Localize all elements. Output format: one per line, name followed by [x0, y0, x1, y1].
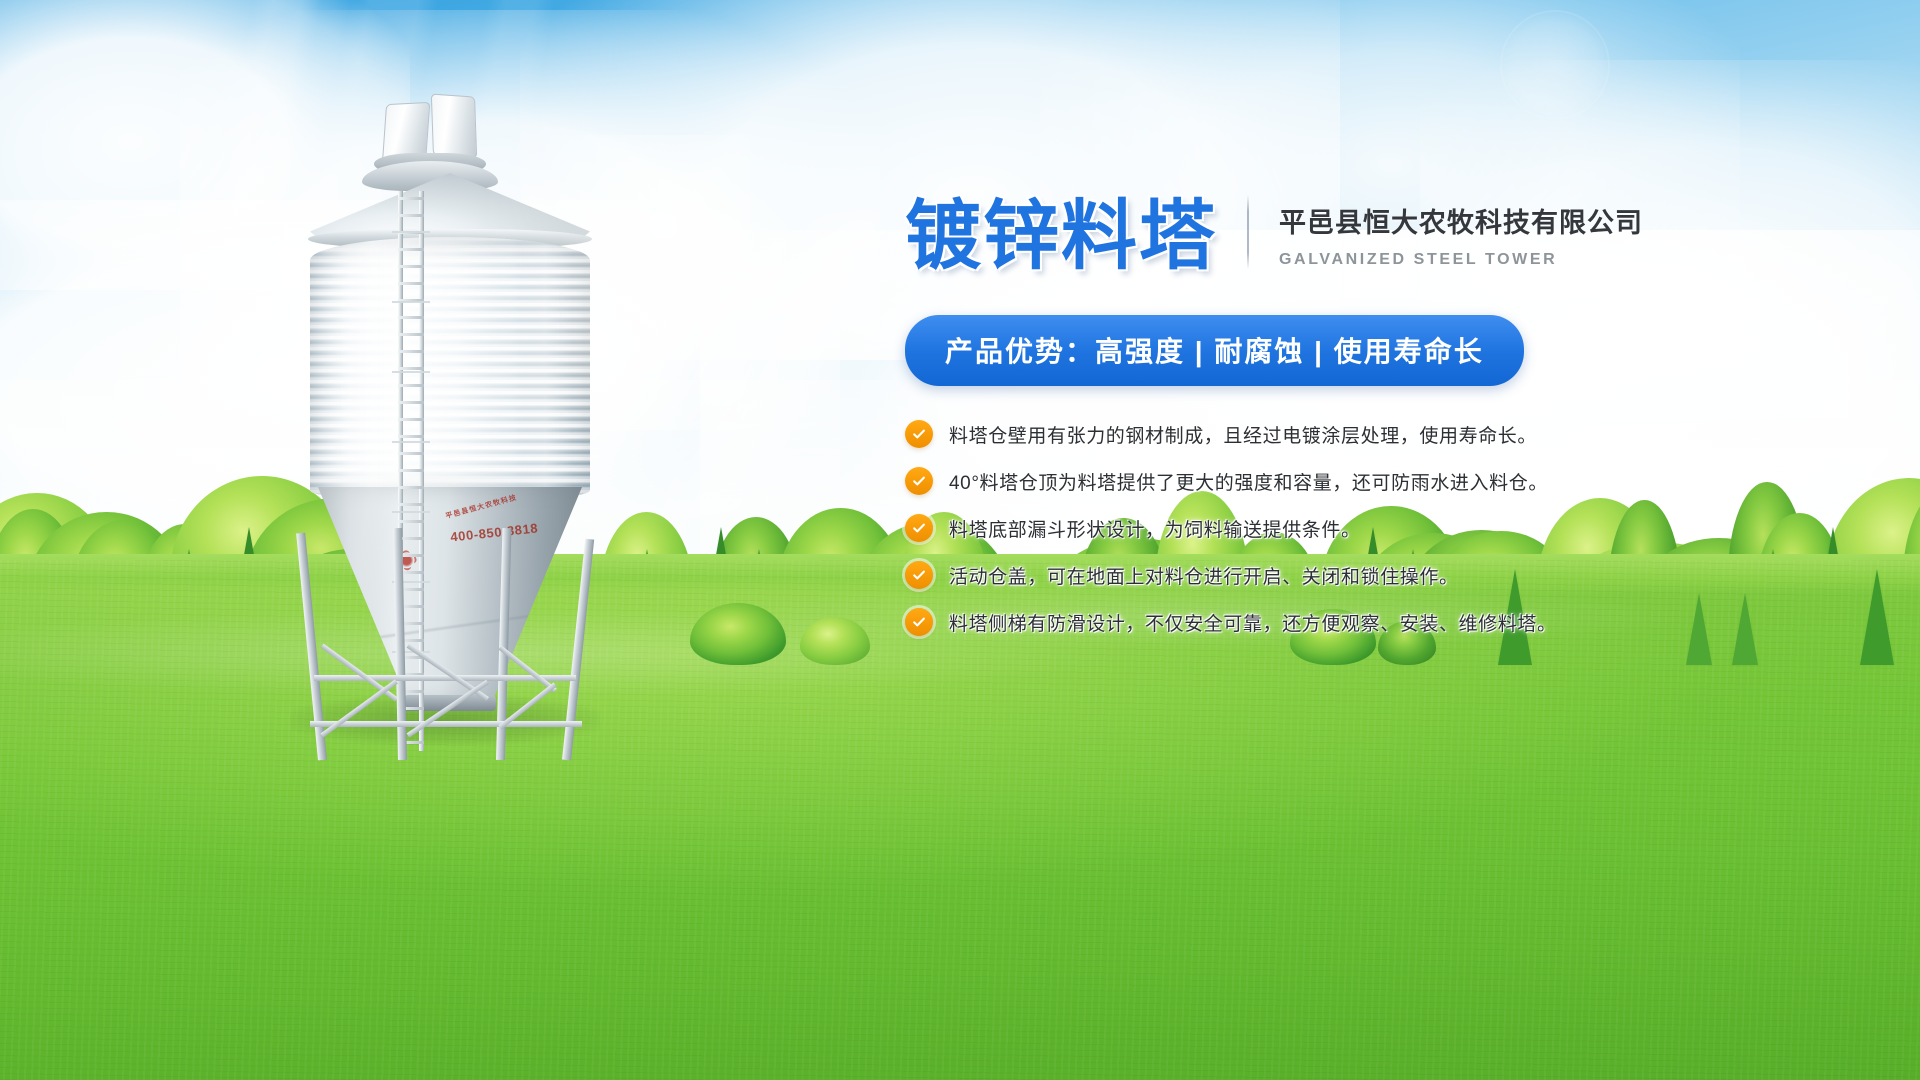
- ladder-rung: [398, 520, 424, 523]
- ladder-rung: [398, 197, 424, 200]
- silo-corrugated-barrel: [310, 237, 590, 495]
- silo-support-legs: [300, 525, 600, 760]
- title-divider: [1247, 195, 1249, 269]
- feature-list-item-label: 料塔侧梯有防滑设计，不仅安全可靠，还方便观察、安装、维修料塔。: [949, 609, 1557, 636]
- ladder-rung: [398, 248, 424, 251]
- ladder-cage-hoop: [392, 441, 430, 443]
- ladder-cage-hoop: [392, 301, 430, 303]
- leg-horizontal-brace: [310, 721, 582, 727]
- hero-text-panel: 镀锌料塔 平邑县恒大农牧科技有限公司 GALVANIZED STEEL TOWE…: [905, 195, 1885, 655]
- ladder-rung: [398, 503, 424, 506]
- ladder-rung: [398, 452, 424, 455]
- foreground-tree-shape: [800, 617, 870, 665]
- check-circle-icon: [905, 514, 933, 542]
- ladder-cage-hoop: [392, 371, 430, 373]
- feature-list-item: 料塔仓壁用有张力的钢材制成，且经过电镀涂层处理，使用寿命长。: [905, 420, 1885, 448]
- check-circle-icon: [905, 561, 933, 589]
- ladder-rung: [398, 367, 424, 370]
- hero-banner-stage: 平邑县恒大农牧科技 400-850-8818 镀锌料塔 平邑县恒大农牧科技有限公…: [0, 0, 1920, 1080]
- title-row: 镀锌料塔 平邑县恒大农牧科技有限公司 GALVANIZED STEEL TOWE…: [905, 195, 1885, 275]
- advantage-badge: 产品优势：高强度 | 耐腐蚀 | 使用寿命长: [905, 315, 1524, 386]
- ladder-rung: [398, 350, 424, 353]
- leg-cross-brace: [407, 680, 489, 738]
- ladder-rung: [398, 265, 424, 268]
- feature-list-item-label: 料塔底部漏斗形状设计，为饲料输送提供条件。: [949, 515, 1361, 542]
- brand-block: 平邑县恒大农牧科技有限公司 GALVANIZED STEEL TOWER: [1279, 207, 1643, 275]
- feature-list-item: 料塔侧梯有防滑设计，不仅安全可靠，还方便观察、安装、维修料塔。: [905, 608, 1885, 636]
- check-circle-icon: [905, 467, 933, 495]
- ladder-rung: [398, 486, 424, 489]
- ladder-rung: [398, 214, 424, 217]
- ladder-cage-hoop: [392, 511, 430, 513]
- feature-list-item-label: 40°料塔仓顶为料塔提供了更大的强度和容量，还可防雨水进入料仓。: [949, 468, 1548, 495]
- ladder-rung: [398, 282, 424, 285]
- feature-list-item-label: 料塔仓壁用有张力的钢材制成，且经过电镀涂层处理，使用寿命长。: [949, 421, 1537, 448]
- check-circle-icon: [905, 420, 933, 448]
- silo-leg: [562, 539, 594, 761]
- feature-list: 料塔仓壁用有张力的钢材制成，且经过电镀涂层处理，使用寿命长。40°料塔仓顶为料塔…: [905, 420, 1885, 636]
- ladder-rung: [398, 418, 424, 421]
- ladder-rung: [398, 384, 424, 387]
- ladder-rung: [398, 401, 424, 404]
- ladder-rung: [398, 316, 424, 319]
- ladder-rung: [398, 469, 424, 472]
- page-title: 镀锌料塔: [905, 199, 1217, 275]
- company-name: 平邑县恒大农牧科技有限公司: [1279, 207, 1643, 241]
- sun-icon: [1500, 10, 1610, 120]
- ladder-rung: [398, 435, 424, 438]
- galvanized-silo-image: 平邑县恒大农牧科技 400-850-8818: [300, 95, 600, 750]
- feature-list-item: 活动仓盖，可在地面上对料仓进行开启、关闭和锁住操作。: [905, 561, 1885, 589]
- feature-list-item: 40°料塔仓顶为料塔提供了更大的强度和容量，还可防雨水进入料仓。: [905, 467, 1885, 495]
- ladder-cage-hoop: [392, 231, 430, 233]
- feature-list-item: 料塔底部漏斗形状设计，为饲料输送提供条件。: [905, 514, 1885, 542]
- silo-lid-right: [431, 94, 477, 159]
- product-subtitle-en: GALVANIZED STEEL TOWER: [1279, 251, 1643, 269]
- leg-cross-brace: [407, 643, 489, 701]
- ladder-rung: [398, 333, 424, 336]
- leg-cross-brace: [321, 643, 398, 701]
- leg-cross-brace: [321, 679, 398, 737]
- foreground-tree-shape: [690, 603, 786, 665]
- feature-list-item-label: 活动仓盖，可在地面上对料仓进行开启、关闭和锁住操作。: [949, 562, 1459, 589]
- check-circle-icon: [905, 608, 933, 636]
